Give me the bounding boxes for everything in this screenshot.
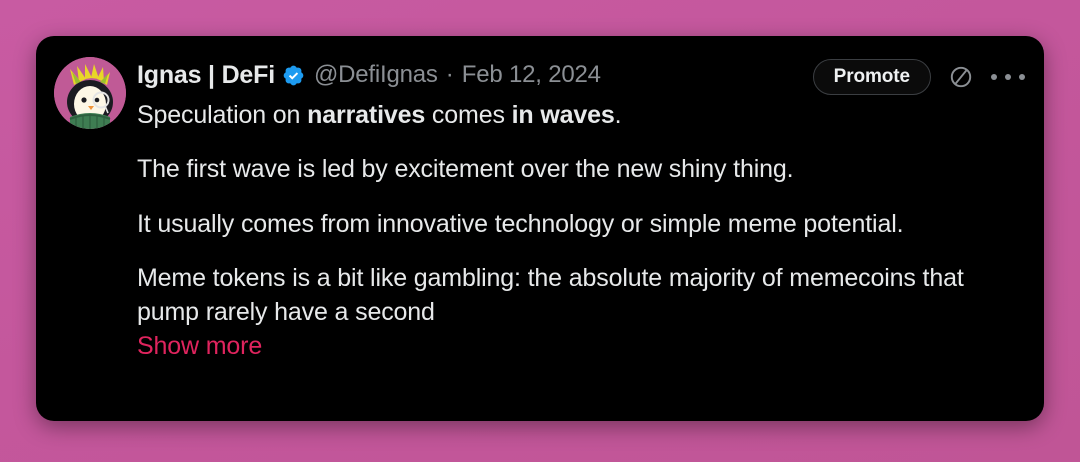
tweet-text: Speculation on narratives comes in waves…	[137, 98, 1020, 364]
page-background: Ignas | DeFi @DefiIgnas · Feb 12, 2024 P…	[0, 0, 1080, 462]
p1-part-2: comes	[425, 101, 511, 129]
author-identity[interactable]: Ignas | DeFi @DefiIgnas · Feb 12, 2024	[137, 58, 601, 92]
promote-button[interactable]: Promote	[813, 59, 931, 95]
p1-bold-1: narratives	[307, 101, 425, 129]
header-actions: Promote	[813, 60, 1025, 94]
p1-bold-2: in waves	[512, 101, 615, 129]
timestamp: Feb 12, 2024	[462, 63, 601, 87]
paragraph-3: It usually comes from innovative technol…	[137, 207, 1020, 241]
more-horizontal-icon[interactable]	[991, 63, 1025, 91]
paragraph-2: The first wave is led by excitement over…	[137, 152, 1020, 186]
p1-part-3: .	[615, 101, 622, 129]
display-name: Ignas | DeFi	[137, 63, 275, 88]
pudgy-penguin-avatar-icon	[54, 57, 126, 129]
paragraph-4: Meme tokens is a bit like gambling: the …	[137, 261, 1020, 330]
circle-slash-icon[interactable]	[947, 63, 975, 91]
tweet-card[interactable]: Ignas | DeFi @DefiIgnas · Feb 12, 2024 P…	[36, 36, 1044, 421]
p1-part-1: Speculation on	[137, 101, 307, 129]
paragraph-1: Speculation on narratives comes in waves…	[137, 98, 1020, 132]
author-handle: @DefiIgnas	[314, 63, 438, 87]
avatar[interactable]	[54, 57, 126, 129]
show-more-link[interactable]: Show more	[137, 329, 262, 363]
separator: ·	[446, 63, 454, 87]
tweet-header: Ignas | DeFi @DefiIgnas · Feb 12, 2024 P…	[36, 36, 1044, 102]
verified-badge-icon	[282, 64, 305, 87]
